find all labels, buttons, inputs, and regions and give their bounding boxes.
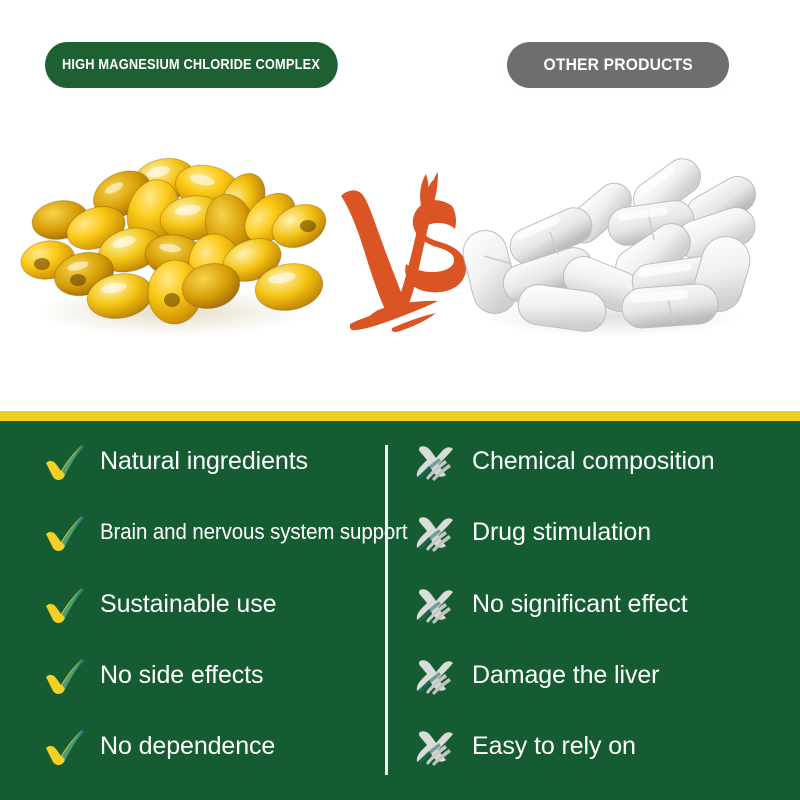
cross-icon — [412, 726, 458, 766]
list-item-label: No dependence — [100, 734, 275, 759]
check-icon — [42, 512, 88, 552]
list-item: Damage the liver — [412, 655, 800, 695]
product-photo-band — [0, 130, 800, 410]
list-item: Sustainable use — [42, 584, 382, 624]
white-tablets-image — [462, 152, 762, 337]
cross-icon — [412, 655, 458, 695]
list-item-label: Damage the liver — [472, 663, 659, 688]
other-products-title-label: OTHER PRODUCTS — [543, 55, 692, 75]
list-item: Easy to rely on — [412, 726, 800, 766]
list-item-label: Sustainable use — [100, 592, 276, 617]
check-icon — [42, 726, 88, 766]
versus-brushstroke-icon — [334, 168, 468, 340]
list-item-label: Brain and nervous system support — [100, 521, 407, 543]
list-item-label: No significant effect — [472, 592, 688, 617]
other-products-title-pill: OTHER PRODUCTS — [507, 42, 729, 88]
list-item-label: No side effects — [100, 663, 263, 688]
product-title-label: HIGH MAGNESIUM CHLORIDE COMPLEX — [62, 57, 320, 73]
list-item: No significant effect — [412, 584, 800, 624]
list-item: Chemical composition — [412, 441, 800, 481]
check-icon — [42, 655, 88, 695]
cross-icon — [412, 441, 458, 481]
list-item: Natural ingredients — [42, 441, 382, 481]
column-divider — [385, 445, 388, 775]
comparison-panel: Natural ingredients Brain and nervous sy… — [0, 411, 800, 800]
comparison-poster: HIGH MAGNESIUM CHLORIDE COMPLEX OTHER PR… — [0, 0, 800, 800]
check-icon — [42, 584, 88, 624]
list-item: Drug stimulation — [412, 512, 800, 552]
list-item: Brain and nervous system support — [42, 512, 382, 552]
cross-icon — [412, 584, 458, 624]
header-pill-row: HIGH MAGNESIUM CHLORIDE COMPLEX OTHER PR… — [0, 0, 800, 130]
softgel-capsules-image — [12, 152, 332, 337]
cross-icon — [412, 512, 458, 552]
list-item: No side effects — [42, 655, 382, 695]
list-item-label: Easy to rely on — [472, 734, 636, 759]
list-item-label: Natural ingredients — [100, 449, 308, 474]
list-item-label: Chemical composition — [472, 449, 715, 474]
panel-accent-bar — [0, 411, 800, 421]
list-item: No dependence — [42, 726, 382, 766]
list-item-label: Drug stimulation — [472, 520, 651, 545]
check-icon — [42, 441, 88, 481]
product-title-pill: HIGH MAGNESIUM CHLORIDE COMPLEX — [45, 42, 338, 88]
